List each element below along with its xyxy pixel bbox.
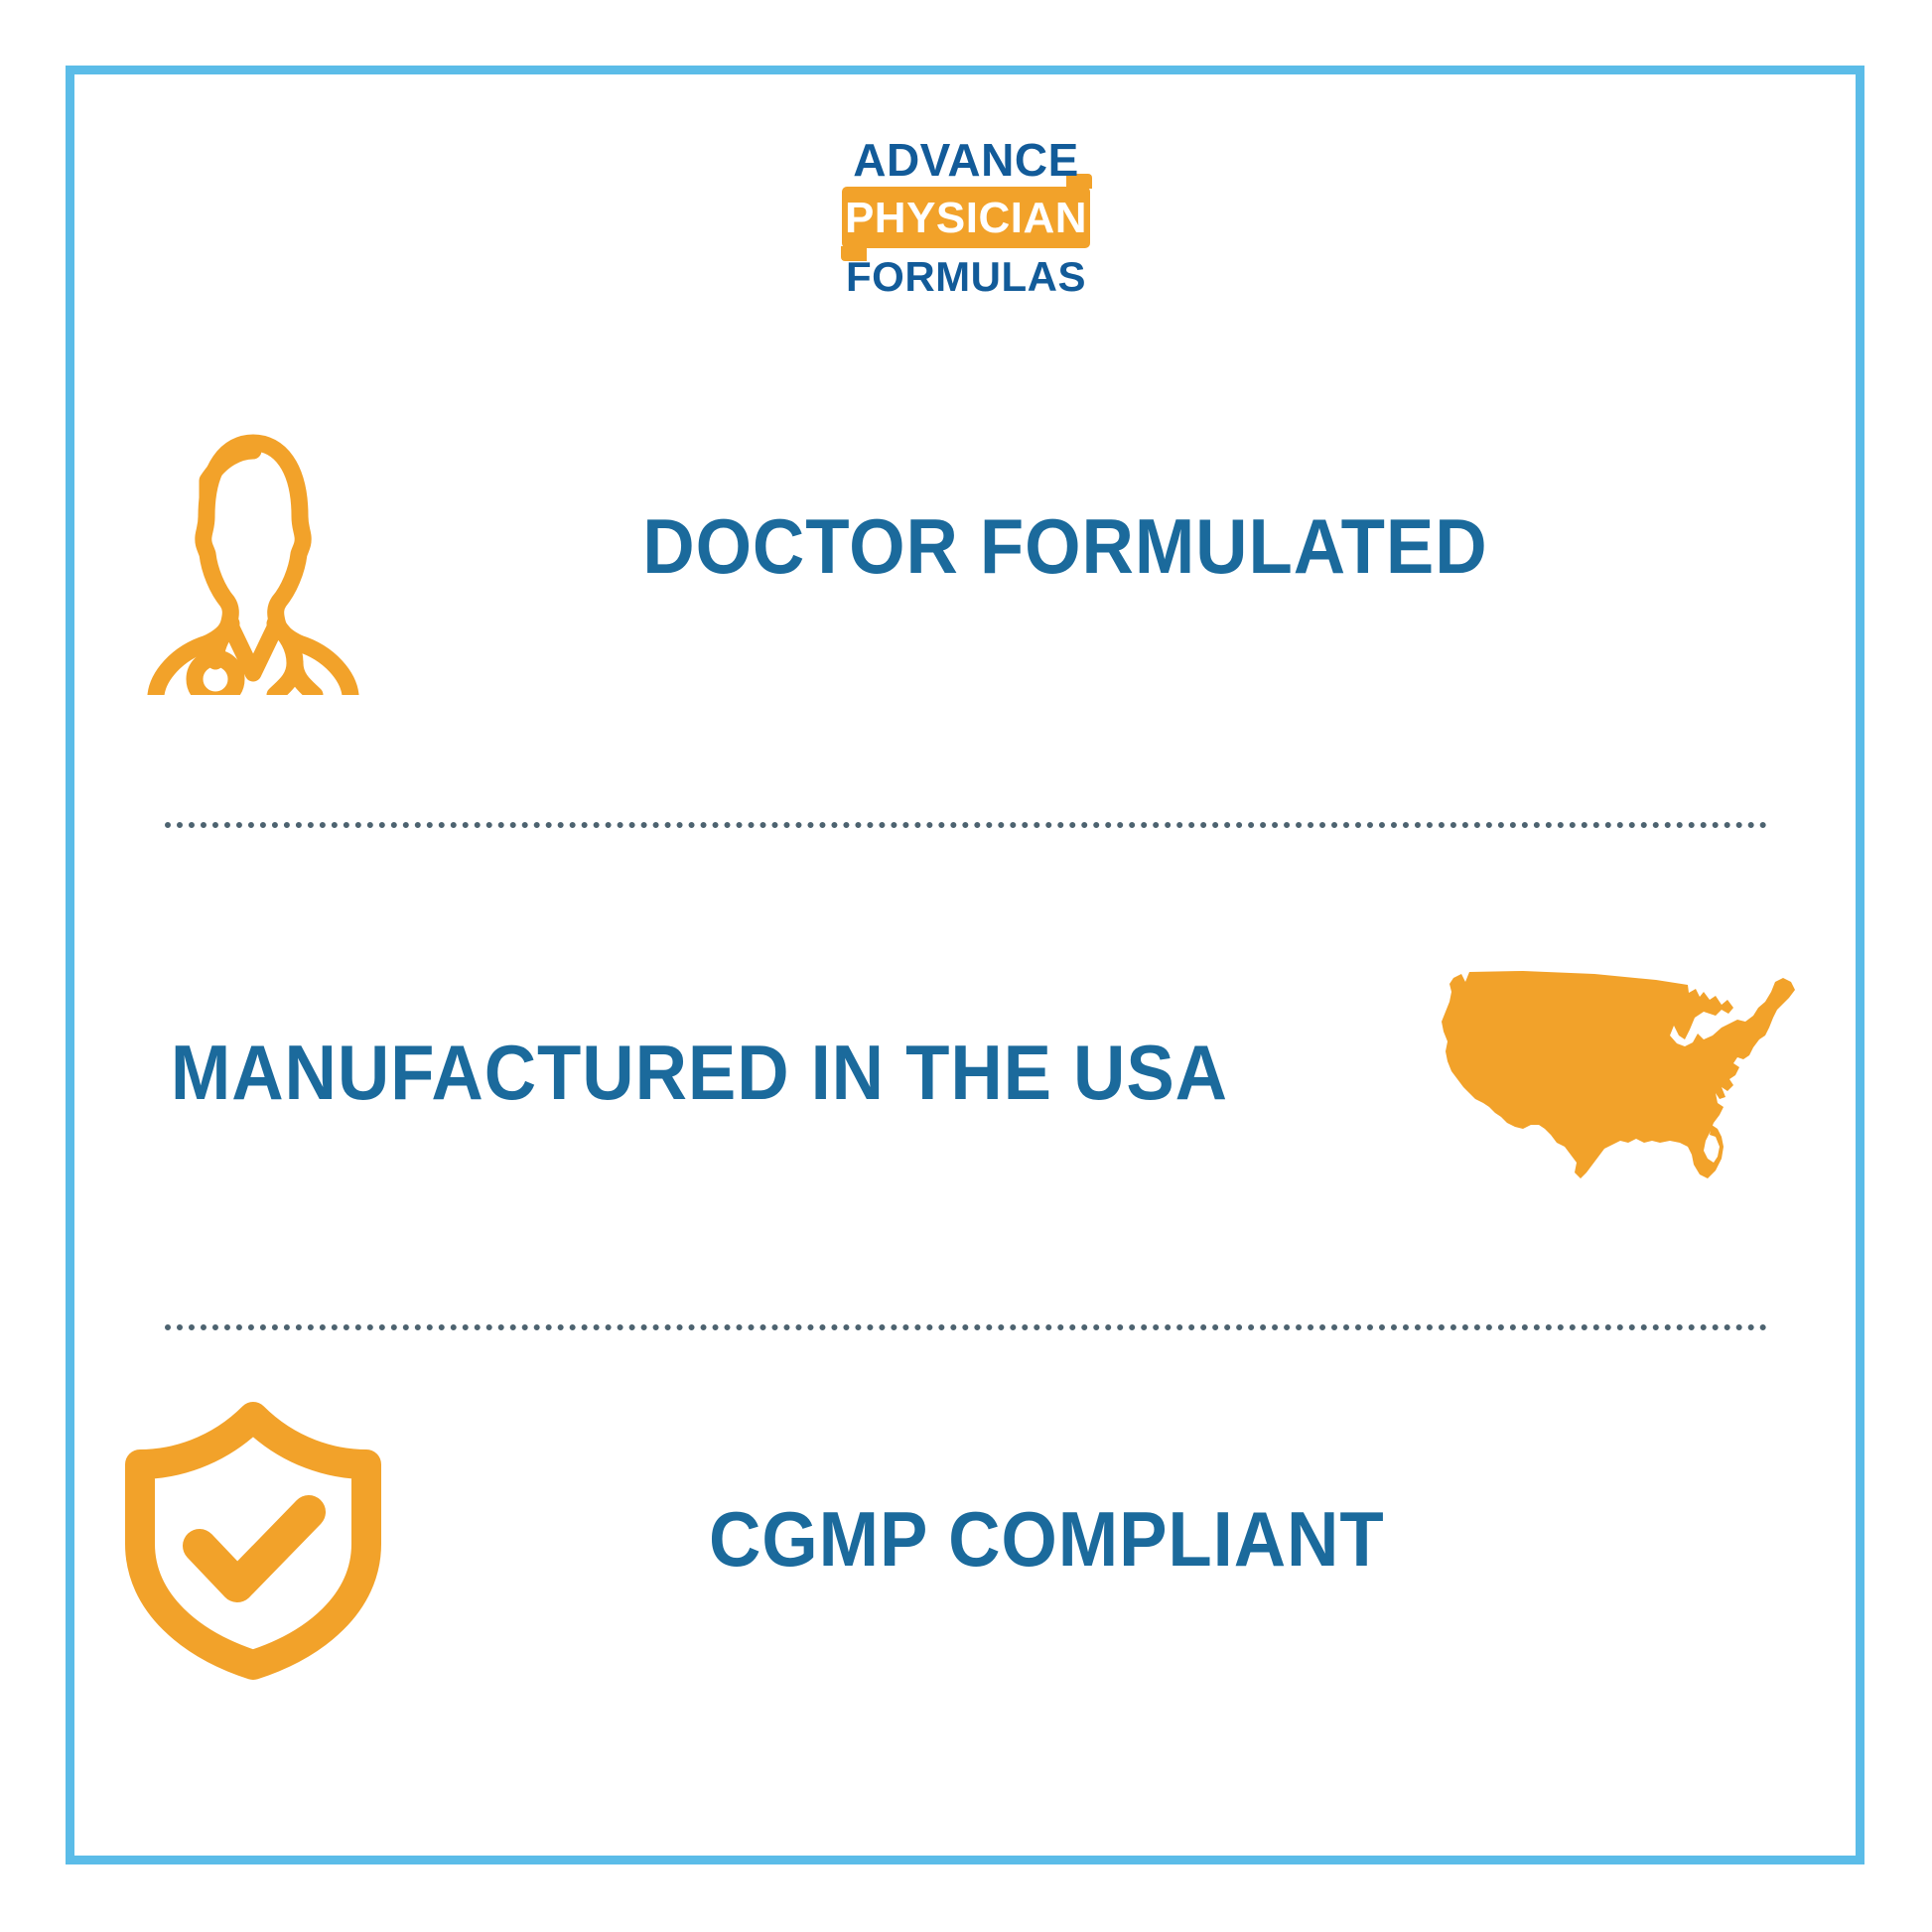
logo-lockup: ADVANCE PHYSICIAN FORMULAS — [842, 137, 1090, 296]
feature-row-manufactured-in-the-usa: MANUFACTURED IN THE USA — [89, 923, 1843, 1221]
divider-1 — [165, 822, 1767, 828]
usa-map-icon — [1366, 948, 1843, 1196]
logo-text-physician: PHYSICIAN — [842, 197, 1090, 240]
badge-canvas: ADVANCE PHYSICIAN FORMULAS — [0, 0, 1932, 1932]
feature-label-cgmp-compliant: CGMP COMPLIANT — [467, 1494, 1792, 1585]
divider-2 — [165, 1324, 1767, 1330]
feature-row-doctor-formulated: DOCTOR FORMULATED — [89, 397, 1843, 695]
logo-text-formulas: FORMULAS — [842, 256, 1090, 298]
feature-row-cgmp-compliant: CGMP COMPLIANT — [89, 1390, 1843, 1688]
feature-label-doctor-formulated: DOCTOR FORMULATED — [467, 501, 1792, 592]
brand-logo: ADVANCE PHYSICIAN FORMULAS — [0, 137, 1932, 296]
feature-label-manufactured-in-the-usa: MANUFACTURED IN THE USA — [89, 1028, 1277, 1118]
logo-text-advance: ADVANCE — [842, 137, 1090, 183]
doctor-stethoscope-icon — [89, 397, 417, 695]
shield-check-icon — [89, 1395, 417, 1683]
